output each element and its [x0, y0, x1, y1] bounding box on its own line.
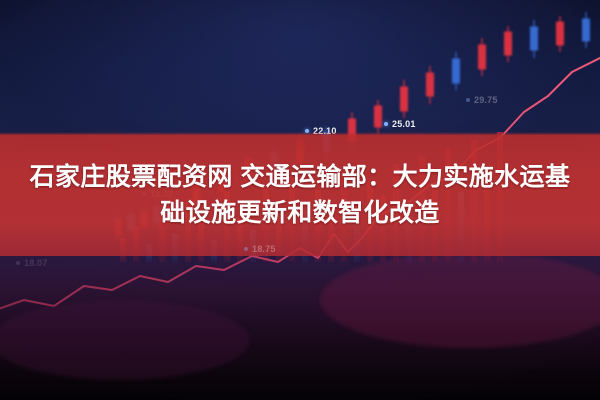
headline-block: 石家庄股票配资网 交通运输部：大力实施水运基 础设施更新和数智化改造	[0, 135, 600, 256]
price-label-value: 25.01	[392, 119, 416, 129]
marker-dot-icon	[16, 261, 20, 265]
price-label-1807-shadow: 18.07	[16, 258, 48, 268]
marker-dot-icon	[466, 98, 470, 102]
price-label-2501: 25.01	[384, 119, 416, 129]
marker-dot-icon	[244, 247, 248, 251]
headline-line-1: 石家庄股票配资网 交通运输部：大力实施水运基	[30, 163, 571, 193]
headline-line-2: 础设施更新和数智化改造	[160, 199, 439, 229]
price-label-value: 18.07	[24, 258, 48, 268]
price-label-value: 18.75	[252, 244, 276, 254]
price-label-value: 29.75	[474, 95, 498, 105]
promo-banner: 18.07 18.07 22.10 25.01 29.75 18.75 石家庄股…	[0, 0, 600, 400]
price-label-1875: 18.75	[244, 244, 276, 254]
price-label-2975: 29.75	[466, 95, 498, 105]
marker-dot-icon	[384, 122, 388, 126]
